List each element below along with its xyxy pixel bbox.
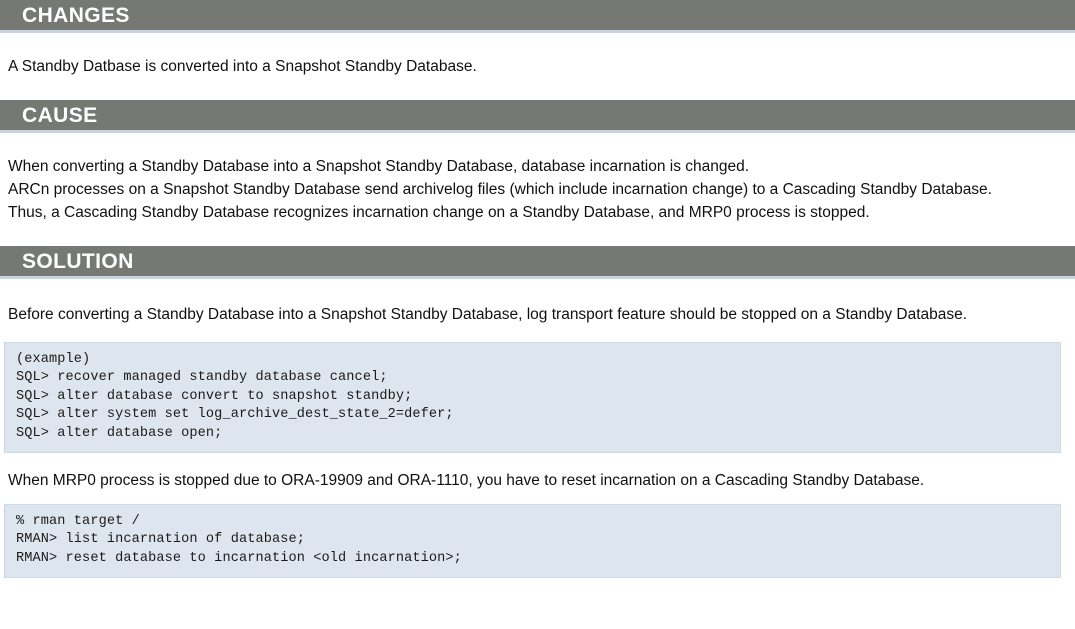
spacer	[0, 326, 1075, 342]
section-header-cause: CAUSE	[0, 100, 1075, 133]
spacer	[0, 224, 1075, 246]
spacer	[0, 279, 1075, 303]
spacer	[0, 33, 1075, 55]
code-block-sql-example[interactable]: (example) SQL> recover managed standby d…	[4, 342, 1061, 453]
paragraph: ARCn processes on a Snapshot Standby Dat…	[8, 178, 1053, 201]
spacer	[0, 78, 1075, 100]
section-body-solution: Before converting a Standby Database int…	[0, 303, 1075, 326]
paragraph: Before converting a Standby Database int…	[8, 303, 1053, 326]
code-text: (example) SQL> recover managed standby d…	[16, 351, 1050, 443]
section-body-cause: When converting a Standby Database into …	[0, 155, 1075, 224]
spacer	[0, 453, 1075, 469]
code-text: % rman target / RMAN> list incarnation o…	[16, 513, 1050, 568]
section-title-solution: SOLUTION	[22, 251, 134, 272]
code-block-rman-example[interactable]: % rman target / RMAN> list incarnation o…	[4, 504, 1061, 578]
spacer	[0, 133, 1075, 155]
section-title-cause: CAUSE	[22, 105, 98, 126]
section-title-changes: CHANGES	[22, 5, 130, 26]
document-page: CHANGES A Standby Datbase is converted i…	[0, 0, 1075, 578]
section-body-changes: A Standby Datbase is converted into a Sn…	[0, 55, 1075, 78]
paragraph: When converting a Standby Database into …	[8, 155, 1053, 178]
paragraph: When MRP0 process is stopped due to ORA-…	[8, 469, 1053, 492]
paragraph: Thus, a Cascading Standby Database recog…	[8, 201, 1053, 224]
section-body-solution-note: When MRP0 process is stopped due to ORA-…	[0, 469, 1075, 492]
paragraph: A Standby Datbase is converted into a Sn…	[8, 55, 1053, 78]
section-header-changes: CHANGES	[0, 0, 1075, 33]
section-header-solution: SOLUTION	[0, 246, 1075, 279]
spacer	[0, 492, 1075, 504]
